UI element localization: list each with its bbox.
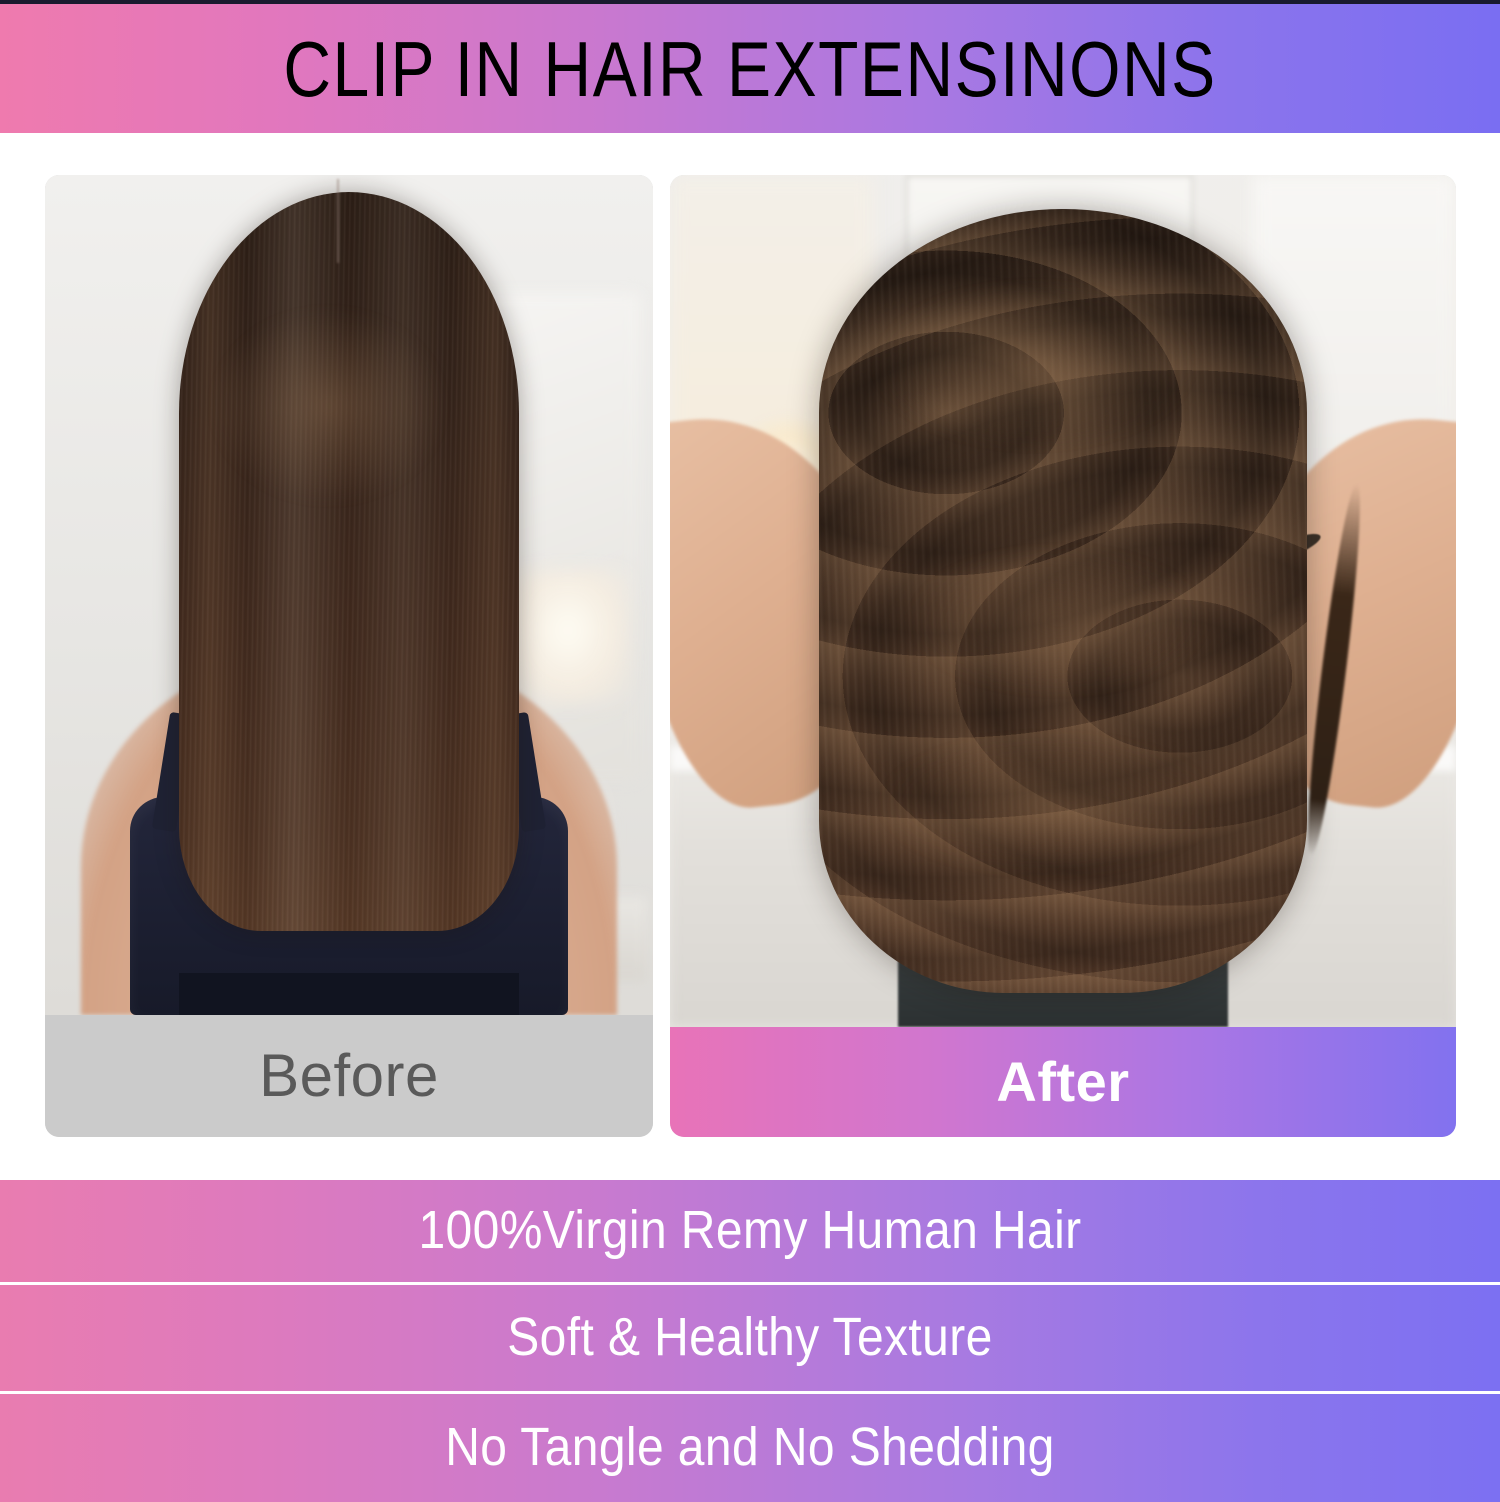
after-photo [670, 175, 1456, 1027]
page-title: CLIP IN HAIR EXTENSINONS [283, 30, 1216, 108]
before-photo-scene [45, 175, 653, 1015]
model-skirt [179, 973, 519, 1015]
before-label: Before [259, 1046, 439, 1106]
before-photo [45, 175, 653, 1015]
feature-list: 100%Virgin Remy Human Hair Soft & Health… [0, 1180, 1500, 1502]
product-infographic: CLIP IN HAIR EXTENSINONS [0, 0, 1500, 1502]
before-caption-bar: Before [45, 1015, 653, 1137]
feature-bar-1: 100%Virgin Remy Human Hair [0, 1180, 1500, 1282]
background-lamp-glow [507, 570, 629, 704]
after-caption-bar: After [670, 1027, 1456, 1137]
feature-text-1: 100%Virgin Remy Human Hair [418, 1204, 1081, 1258]
model-hair-wavy-extensions [819, 209, 1306, 993]
model-hair-straight [179, 192, 519, 931]
hair-sheen-upper [878, 287, 1190, 444]
hair-strand-texture [179, 192, 519, 931]
before-panel[interactable]: Before [45, 175, 653, 1137]
hair-sheen [213, 310, 445, 502]
feature-bar-3: No Tangle and No Shedding [0, 1394, 1500, 1502]
hair-part-line [337, 179, 339, 263]
after-panel[interactable]: After [670, 175, 1456, 1137]
hair-sheen-lower [888, 742, 1210, 867]
hair-sheen-mid [917, 554, 1200, 687]
feature-bar-2: Soft & Healthy Texture [0, 1285, 1500, 1391]
header-banner: CLIP IN HAIR EXTENSINONS [0, 4, 1500, 133]
after-label: After [996, 1054, 1129, 1110]
after-photo-scene [670, 175, 1456, 1027]
feature-text-3: No Tangle and No Shedding [445, 1421, 1055, 1475]
feature-text-2: Soft & Healthy Texture [507, 1311, 993, 1365]
before-after-comparison: Before [0, 133, 1500, 1180]
